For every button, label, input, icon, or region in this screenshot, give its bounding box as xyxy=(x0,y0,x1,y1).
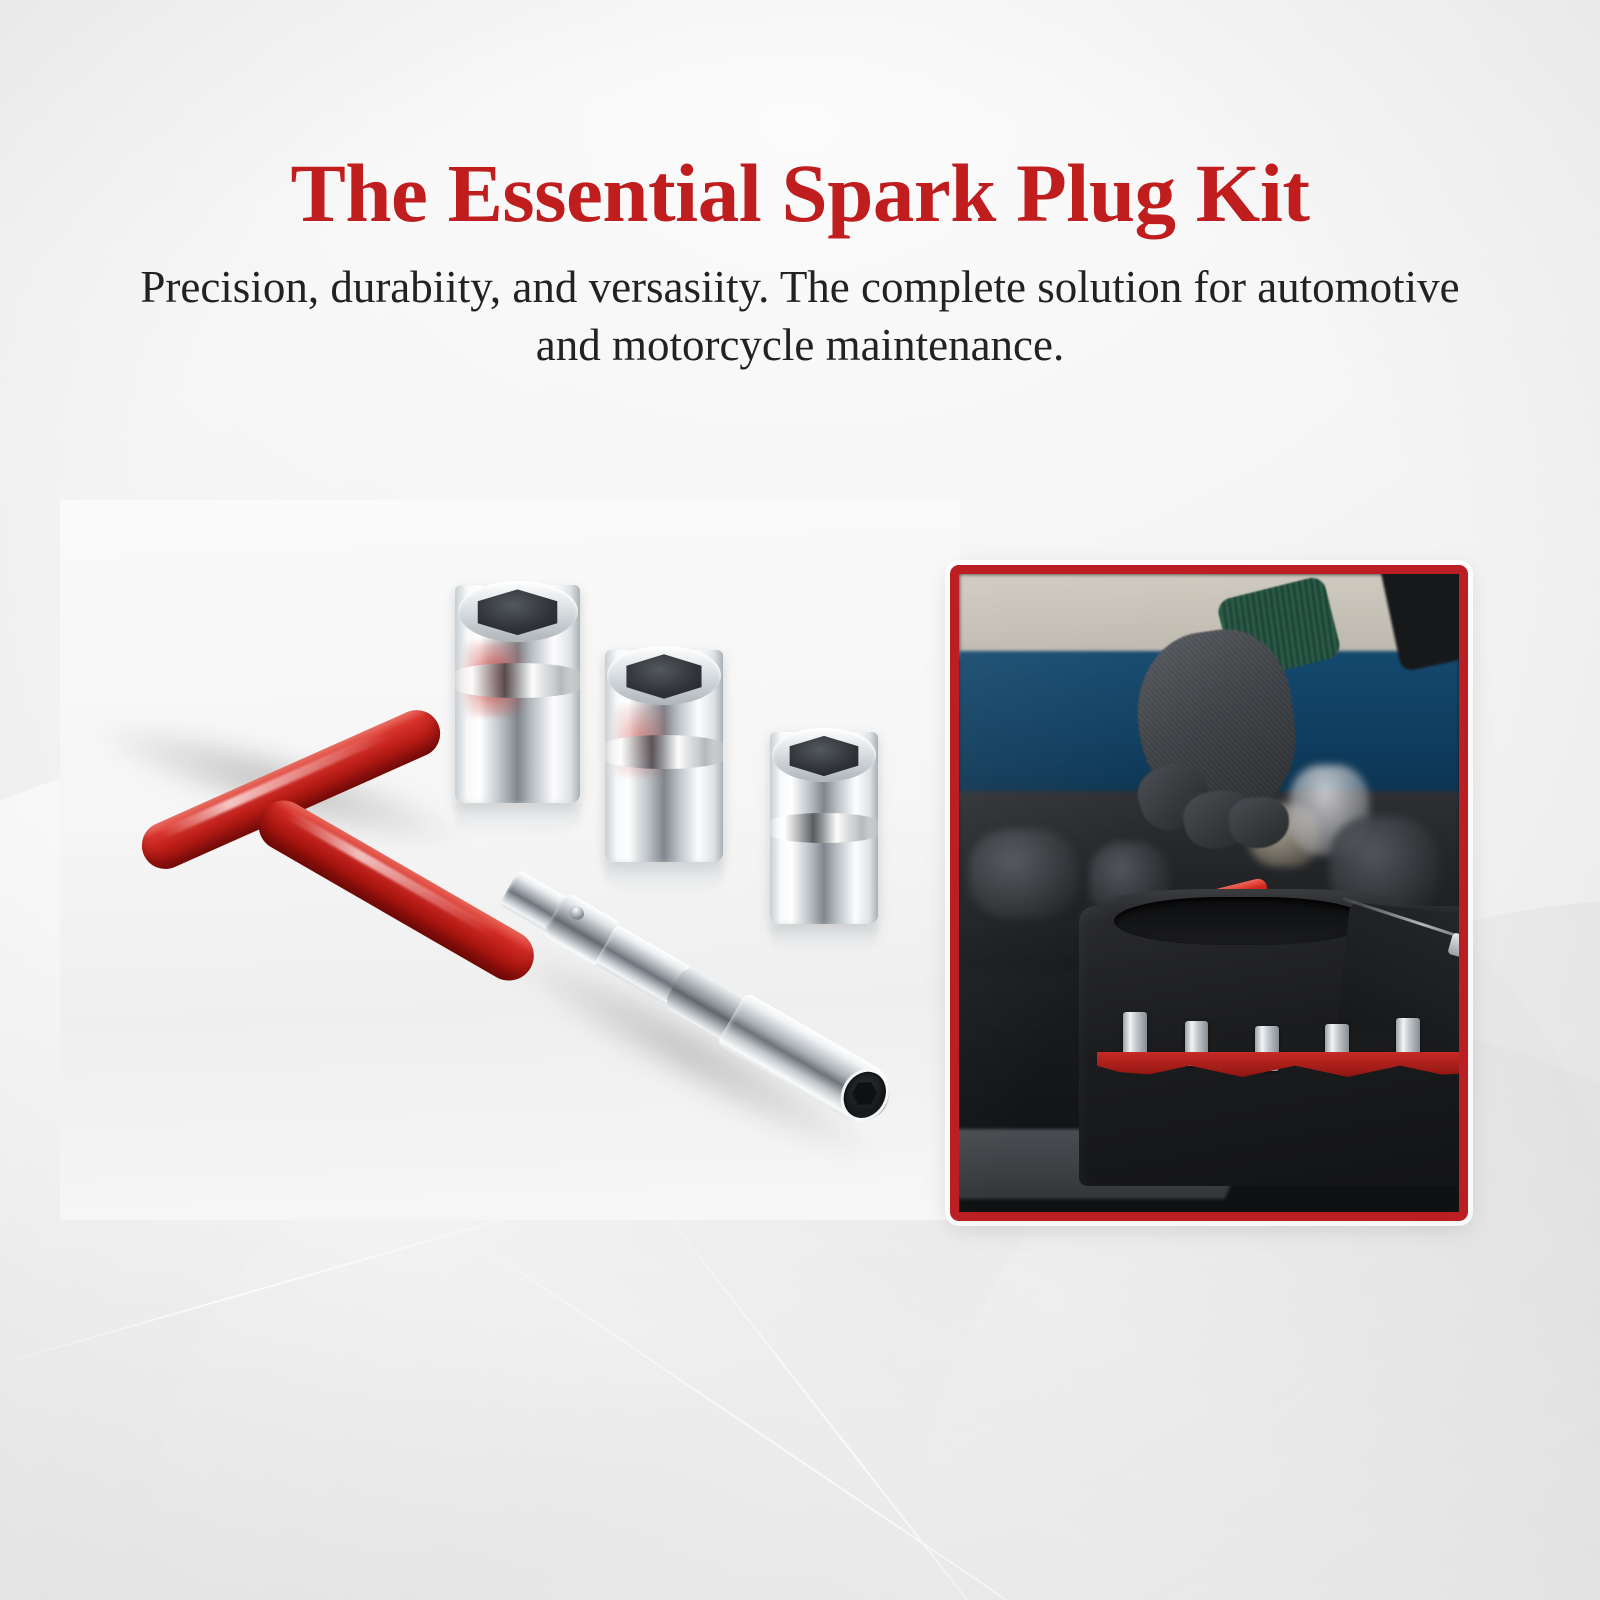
socket-reflection xyxy=(605,862,723,896)
socket-polished-band xyxy=(604,735,724,769)
socket-large xyxy=(455,585,580,803)
socket-small xyxy=(770,732,878,924)
socket-reflection xyxy=(770,924,878,955)
page-subtitle: Precision, durabiity, and versasiity. Th… xyxy=(135,259,1465,374)
inset-photo xyxy=(959,574,1459,1212)
socket-polished-band xyxy=(454,663,581,698)
t-handle-wrench xyxy=(120,670,480,930)
inset-photo-glare xyxy=(959,574,1459,1212)
socket-reflection xyxy=(455,803,580,838)
socket-polished-band xyxy=(769,813,879,844)
inset-photo-frame xyxy=(950,565,1468,1221)
product-poster: The Essential Spark Plug Kit Precision, … xyxy=(0,0,1600,1600)
page-title: The Essential Spark Plug Kit xyxy=(0,152,1600,235)
headline-block: The Essential Spark Plug Kit Precision, … xyxy=(0,152,1600,374)
product-photo xyxy=(60,500,960,1220)
socket-medium xyxy=(605,650,723,862)
